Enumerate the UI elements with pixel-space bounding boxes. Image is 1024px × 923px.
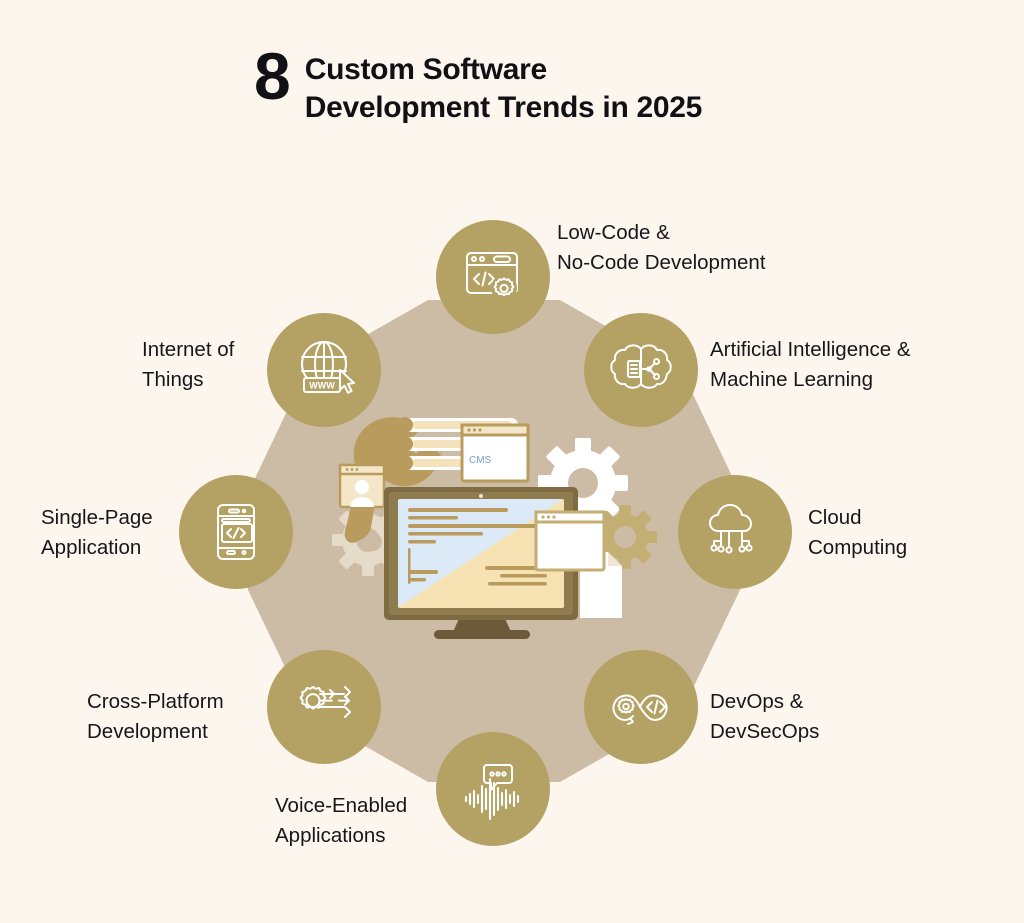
- cms-window-label: CMS: [469, 455, 492, 466]
- user-profile-card: [340, 465, 384, 507]
- cms-browser-window: CMS: [462, 425, 528, 481]
- trend-node-cloud[interactable]: [678, 475, 792, 589]
- label-cross-platform: Cross-Platform Development: [87, 687, 317, 747]
- label-cloud: Cloud Computing: [808, 503, 907, 563]
- label-voice: Voice-Enabled Applications: [275, 791, 525, 851]
- trend-node-ai-ml[interactable]: [584, 313, 698, 427]
- trend-node-devops[interactable]: [584, 650, 698, 764]
- label-ai-ml: Artificial Intelligence & Machine Learni…: [710, 335, 911, 395]
- infographic-artwork: CMS: [0, 0, 1024, 923]
- trend-node-low-code[interactable]: [436, 220, 550, 334]
- white-browser-window: [536, 512, 604, 570]
- label-single-page: Single-Page Application: [41, 503, 261, 563]
- label-iot: Internet of Things: [142, 335, 342, 395]
- gear-badge-icon: [491, 275, 517, 301]
- label-devops: DevOps & DevSecOps: [710, 687, 819, 747]
- infographic-canvas: 8 Custom Software Development Trends in …: [0, 0, 1024, 923]
- label-low-code: Low-Code & No-Code Development: [557, 218, 766, 278]
